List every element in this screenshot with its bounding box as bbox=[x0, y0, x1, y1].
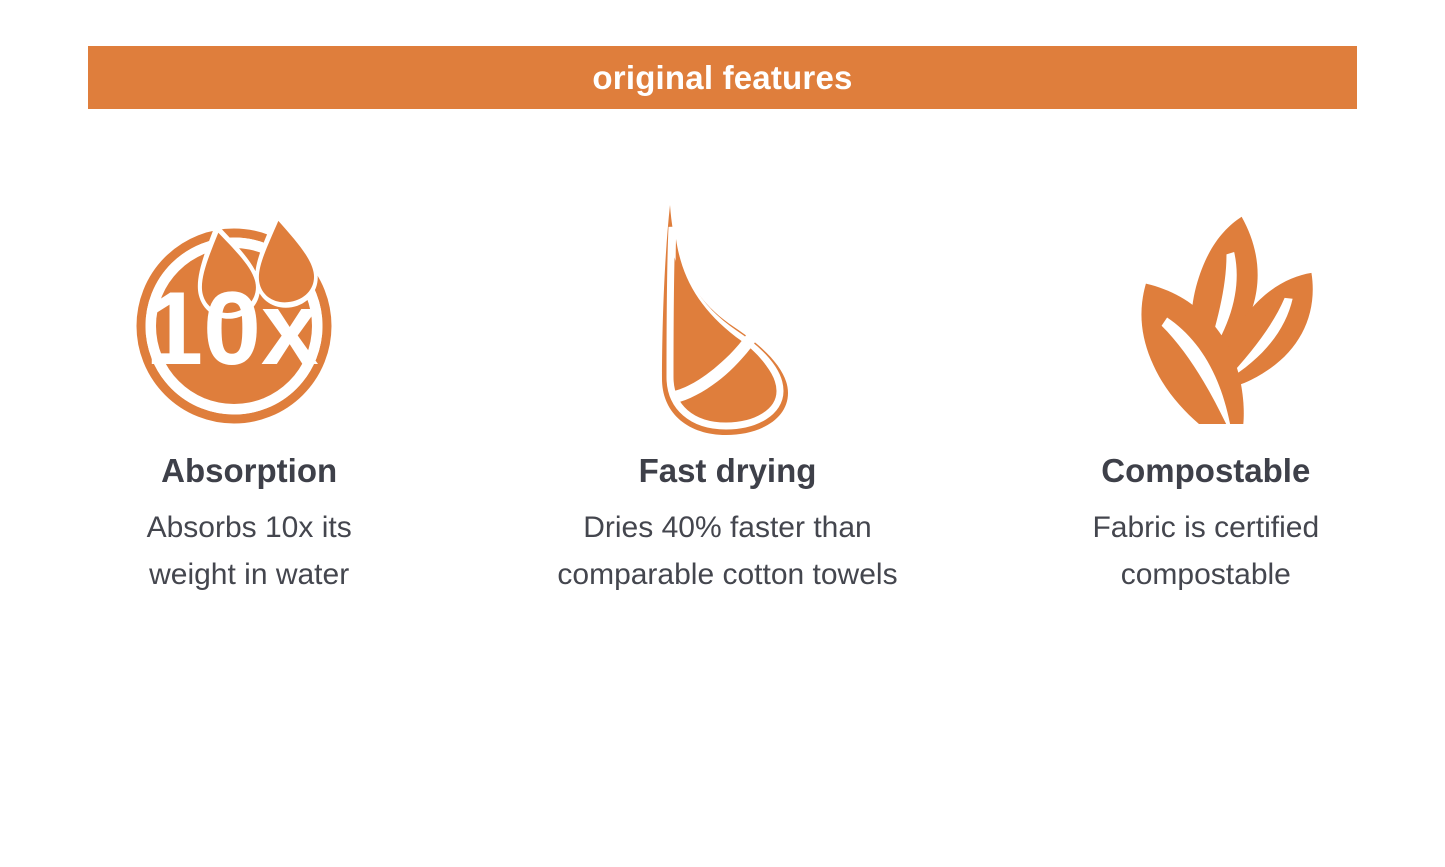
fast-drying-droplet-arrow-icon bbox=[630, 191, 820, 441]
feature-title-compostable: Compostable bbox=[1101, 453, 1310, 489]
feature-card-compostable: Compostable Fabric is certified composta… bbox=[967, 185, 1445, 599]
page-title: original features bbox=[592, 61, 852, 94]
feature-description-fast-drying: Dries 40% faster than comparable cotton … bbox=[517, 505, 937, 599]
feature-description-compostable: Fabric is certified compostable bbox=[1081, 505, 1331, 599]
absorption-icon-label: 10x bbox=[145, 271, 319, 387]
feature-title-absorption: Absorption bbox=[161, 453, 337, 489]
compostable-icon-wrap bbox=[1123, 185, 1333, 447]
infographic-page: original features bbox=[0, 0, 1445, 867]
absorption-icon-wrap: 10x bbox=[134, 185, 349, 447]
feature-title-fast-drying: Fast drying bbox=[639, 453, 817, 489]
feature-card-absorption: 10x Absorption Absorbs 10x its weight in… bbox=[10, 185, 488, 599]
feature-card-fast-drying: Fast drying Dries 40% faster than compar… bbox=[488, 185, 966, 599]
header-banner: original features bbox=[88, 46, 1357, 109]
feature-description-absorption: Absorbs 10x its weight in water bbox=[99, 505, 399, 599]
feature-list: 10x Absorption Absorbs 10x its weight in… bbox=[0, 185, 1445, 599]
compostable-leaves-icon bbox=[1123, 209, 1333, 424]
fast-drying-icon-wrap bbox=[630, 185, 820, 447]
absorption-10x-droplet-icon: 10x bbox=[134, 204, 349, 429]
